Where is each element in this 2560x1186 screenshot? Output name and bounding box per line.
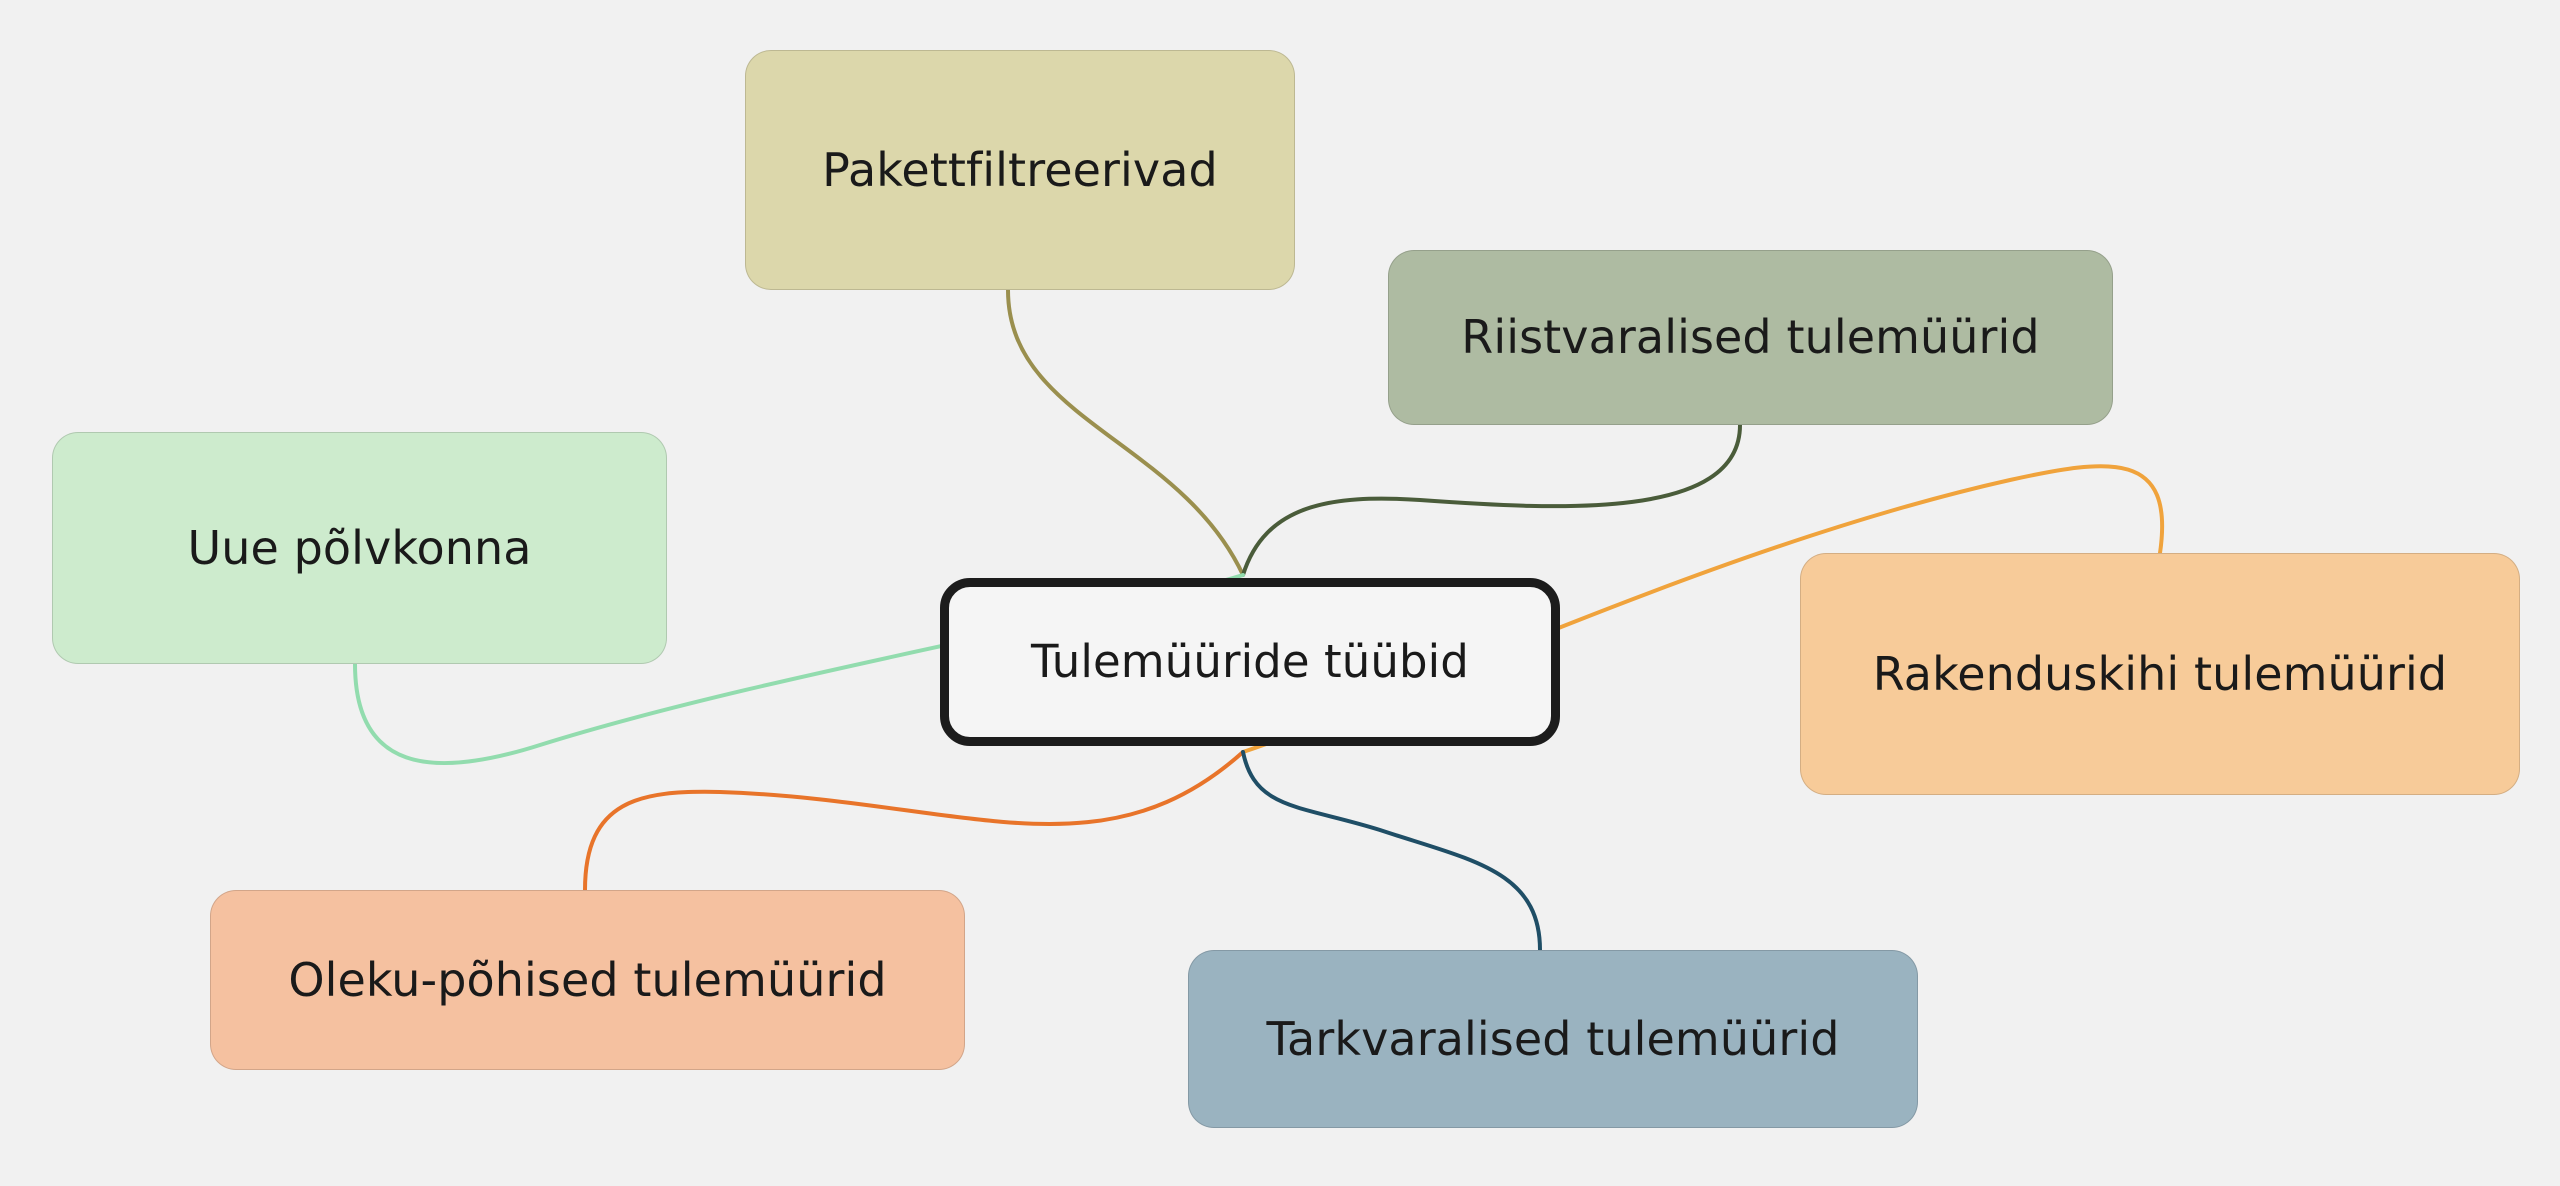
branch-node-rakenduskihi[interactable]: Rakenduskihi tulemüürid <box>1800 553 2520 795</box>
node-label: Uue põlvkonna <box>187 522 531 575</box>
mindmap-edge <box>1008 290 1243 575</box>
node-label: Oleku-põhised tulemüürid <box>288 954 886 1007</box>
root-node[interactable]: Tulemüüride tüübid <box>940 578 1560 746</box>
branch-node-pakettfiltreerivad[interactable]: Pakettfiltreerivad <box>745 50 1295 290</box>
node-label: Riistvaralised tulemüürid <box>1461 311 2039 364</box>
node-label: Tulemüüride tüübid <box>1031 636 1469 688</box>
node-label: Pakettfiltreerivad <box>822 144 1218 197</box>
branch-node-riistvaralised[interactable]: Riistvaralised tulemüürid <box>1388 250 2113 425</box>
branch-node-oleku-pohised[interactable]: Oleku-põhised tulemüürid <box>210 890 965 1070</box>
node-label: Rakenduskihi tulemüürid <box>1873 648 2447 701</box>
mindmap-edge <box>1243 425 1740 575</box>
mindmap-canvas: PakettfiltreerivadRiistvaralised tulemüü… <box>0 0 2560 1186</box>
node-label: Tarkvaralised tulemüürid <box>1266 1013 1839 1066</box>
branch-node-uue-polvkonna[interactable]: Uue põlvkonna <box>52 432 667 664</box>
mindmap-edge <box>1243 752 1540 950</box>
branch-node-tarkvaralised[interactable]: Tarkvaralised tulemüürid <box>1188 950 1918 1128</box>
mindmap-edge <box>585 752 1243 890</box>
